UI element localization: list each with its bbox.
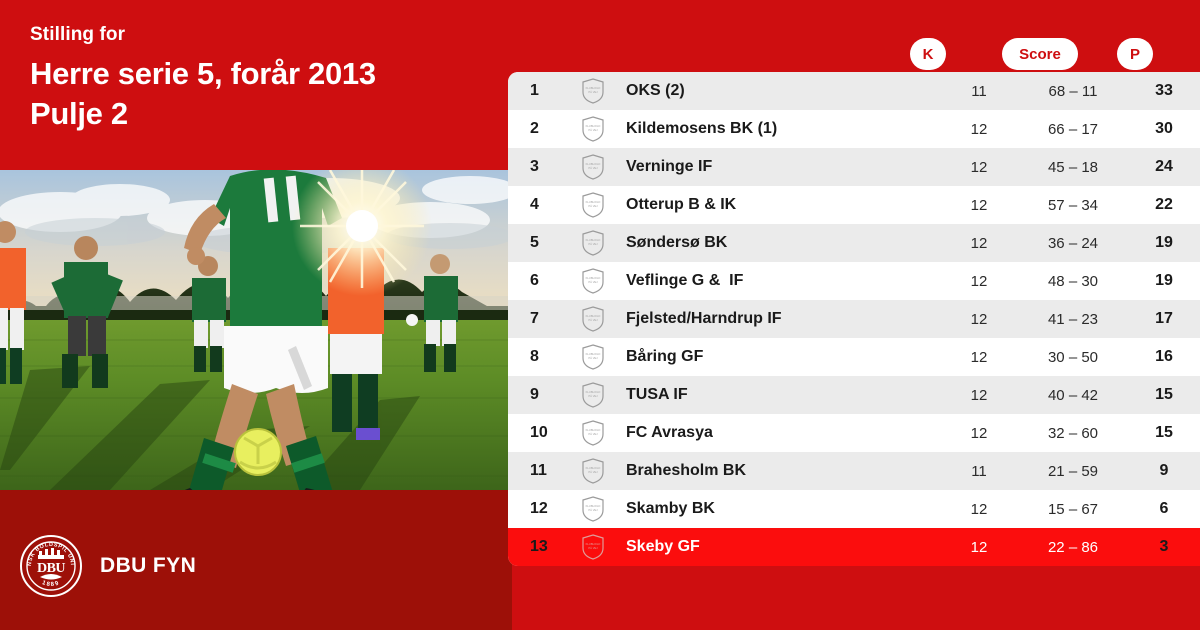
svg-text:DBU: DBU [37,561,65,576]
title-band: Stilling for Herre serie 5, forår 2013 P… [0,0,512,170]
row-matches: 12 [940,349,1018,366]
page-title-line2: Pulje 2 [30,94,482,134]
row-points: 15 [1128,386,1200,404]
row-score: 57 – 34 [1018,197,1128,214]
row-points: 6 [1128,500,1200,518]
row-team-name[interactable]: Verninge IF [614,158,940,176]
row-matches: 12 [940,159,1018,176]
row-rank: 13 [508,538,572,556]
standings-table: 1 KLUBLOGO PÅ VEJ OKS (2)1168 – 11332 KL… [508,72,1200,566]
svg-text:KLUBLOGO: KLUBLOGO [586,238,601,242]
row-score: 36 – 24 [1018,235,1128,252]
row-rank: 1 [508,82,572,100]
column-header-matches: K [910,38,946,70]
svg-text:KLUBLOGO: KLUBLOGO [586,466,601,470]
row-team-name[interactable]: TUSA IF [614,386,940,404]
row-rank: 6 [508,272,572,290]
row-matches: 12 [940,387,1018,404]
svg-text:KLUBLOGO: KLUBLOGO [586,352,601,356]
row-team-name[interactable]: Kildemosens BK (1) [614,120,940,138]
table-row[interactable]: 5 KLUBLOGO PÅ VEJ Søndersø BK1236 – 2419 [508,224,1200,262]
footer-band: DANSK BOLDSPIL UNION 1889 [0,490,512,630]
page-title: Herre serie 5, forår 2013 Pulje 2 [30,54,482,134]
club-shield-icon: KLUBLOGO PÅ VEJ [572,268,614,294]
row-matches: 11 [940,463,1018,480]
row-matches: 12 [940,311,1018,328]
row-points: 30 [1128,120,1200,138]
svg-text:KLUBLOGO: KLUBLOGO [586,200,601,204]
column-header-score: Score [1002,38,1078,70]
svg-text:KLUBLOGO: KLUBLOGO [586,390,601,394]
row-score: 40 – 42 [1018,387,1128,404]
row-rank: 8 [508,348,572,366]
row-points: 9 [1128,462,1200,480]
column-header-points: P [1117,38,1153,70]
row-matches: 12 [940,273,1018,290]
table-row[interactable]: 10 KLUBLOGO PÅ VEJ FC Avrasya1232 – 6015 [508,414,1200,452]
club-shield-icon: KLUBLOGO PÅ VEJ [572,420,614,446]
svg-text:KLUBLOGO: KLUBLOGO [586,162,601,166]
table-row[interactable]: 2 KLUBLOGO PÅ VEJ Kildemosens BK (1)1266… [508,110,1200,148]
table-row[interactable]: 1 KLUBLOGO PÅ VEJ OKS (2)1168 – 1133 [508,72,1200,110]
club-shield-icon: KLUBLOGO PÅ VEJ [572,116,614,142]
football-match-photo [0,170,512,490]
club-shield-icon: KLUBLOGO PÅ VEJ [572,230,614,256]
svg-text:1889: 1889 [41,580,61,588]
row-points: 19 [1128,234,1200,252]
standings-panel: K Score P 1 KLUBLOGO PÅ VEJ OKS (2)1168 … [512,0,1200,630]
table-row[interactable]: 7 KLUBLOGO PÅ VEJ Fjelsted/Harndrup IF12… [508,300,1200,338]
club-shield-icon: KLUBLOGO PÅ VEJ [572,344,614,370]
row-score: 68 – 11 [1018,83,1128,100]
row-team-name[interactable]: Skamby BK [614,500,940,518]
row-matches: 12 [940,425,1018,442]
row-points: 16 [1128,348,1200,366]
row-rank: 3 [508,158,572,176]
table-row[interactable]: 4 KLUBLOGO PÅ VEJ Otterup B & IK1257 – 3… [508,186,1200,224]
row-score: 66 – 17 [1018,121,1128,138]
row-team-name[interactable]: Veflinge G & IF [614,272,940,290]
row-rank: 11 [508,462,572,480]
club-shield-icon: KLUBLOGO PÅ VEJ [572,306,614,332]
row-team-name[interactable]: Skeby GF [614,538,940,556]
brand-logo: DANSK BOLDSPIL UNION 1889 [20,535,196,597]
row-score: 21 – 59 [1018,463,1128,480]
table-row[interactable]: 12 KLUBLOGO PÅ VEJ Skamby BK1215 – 676 [508,490,1200,528]
row-points: 3 [1128,538,1200,556]
row-score: 15 – 67 [1018,501,1128,518]
standings-card: Stilling for Herre serie 5, forår 2013 P… [0,0,1200,630]
row-matches: 12 [940,501,1018,518]
table-row[interactable]: 6 KLUBLOGO PÅ VEJ Veflinge G & IF1248 – … [508,262,1200,300]
row-rank: 2 [508,120,572,138]
row-rank: 7 [508,310,572,328]
row-rank: 4 [508,196,572,214]
club-shield-icon: KLUBLOGO PÅ VEJ [572,192,614,218]
row-rank: 12 [508,500,572,518]
row-team-name[interactable]: Fjelsted/Harndrup IF [614,310,940,328]
svg-text:KLUBLOGO: KLUBLOGO [586,124,601,128]
row-points: 17 [1128,310,1200,328]
svg-text:KLUBLOGO: KLUBLOGO [586,428,601,432]
row-score: 48 – 30 [1018,273,1128,290]
row-team-name[interactable]: Otterup B & IK [614,196,940,214]
table-row[interactable]: 8 KLUBLOGO PÅ VEJ Båring GF1230 – 5016 [508,338,1200,376]
table-row[interactable]: 9 KLUBLOGO PÅ VEJ TUSA IF1240 – 4215 [508,376,1200,414]
row-rank: 10 [508,424,572,442]
row-points: 24 [1128,158,1200,176]
club-shield-icon: KLUBLOGO PÅ VEJ [572,496,614,522]
club-shield-icon: KLUBLOGO PÅ VEJ [572,534,614,560]
kicker-text: Stilling for [30,22,482,48]
row-matches: 12 [940,121,1018,138]
svg-text:KLUBLOGO: KLUBLOGO [586,504,601,508]
club-shield-icon: KLUBLOGO PÅ VEJ [572,154,614,180]
row-team-name[interactable]: FC Avrasya [614,424,940,442]
table-header: K Score P [512,0,1200,72]
row-points: 15 [1128,424,1200,442]
svg-text:KLUBLOGO: KLUBLOGO [586,86,601,90]
row-team-name[interactable]: OKS (2) [614,82,940,100]
svg-text:KLUBLOGO: KLUBLOGO [586,542,601,546]
row-score: 41 – 23 [1018,311,1128,328]
row-matches: 11 [940,83,1018,100]
row-score: 45 – 18 [1018,159,1128,176]
club-shield-icon: KLUBLOGO PÅ VEJ [572,382,614,408]
table-row[interactable]: 3 KLUBLOGO PÅ VEJ Verninge IF1245 – 1824 [508,148,1200,186]
row-rank: 9 [508,386,572,404]
table-row[interactable]: 11 KLUBLOGO PÅ VEJ Brahesholm BK1121 – 5… [508,452,1200,490]
brand-label: DBU FYN [100,554,196,578]
svg-text:KLUBLOGO: KLUBLOGO [586,276,601,280]
table-row[interactable]: 13 KLUBLOGO PÅ VEJ Skeby GF1222 – 863 [508,528,1200,566]
dbu-crest-icon: DANSK BOLDSPIL UNION 1889 [20,535,82,597]
row-score: 22 – 86 [1018,539,1128,556]
page-title-line1: Herre serie 5, forår 2013 [30,54,482,94]
row-team-name[interactable]: Brahesholm BK [614,462,940,480]
row-rank: 5 [508,234,572,252]
row-points: 22 [1128,196,1200,214]
row-points: 33 [1128,82,1200,100]
row-matches: 12 [940,197,1018,214]
row-score: 30 – 50 [1018,349,1128,366]
row-score: 32 – 60 [1018,425,1128,442]
row-team-name[interactable]: Båring GF [614,348,940,366]
club-shield-icon: KLUBLOGO PÅ VEJ [572,458,614,484]
row-matches: 12 [940,539,1018,556]
row-points: 19 [1128,272,1200,290]
row-matches: 12 [940,235,1018,252]
svg-text:KLUBLOGO: KLUBLOGO [586,314,601,318]
row-team-name[interactable]: Søndersø BK [614,234,940,252]
left-panel: Stilling for Herre serie 5, forår 2013 P… [0,0,512,630]
club-shield-icon: KLUBLOGO PÅ VEJ [572,78,614,104]
